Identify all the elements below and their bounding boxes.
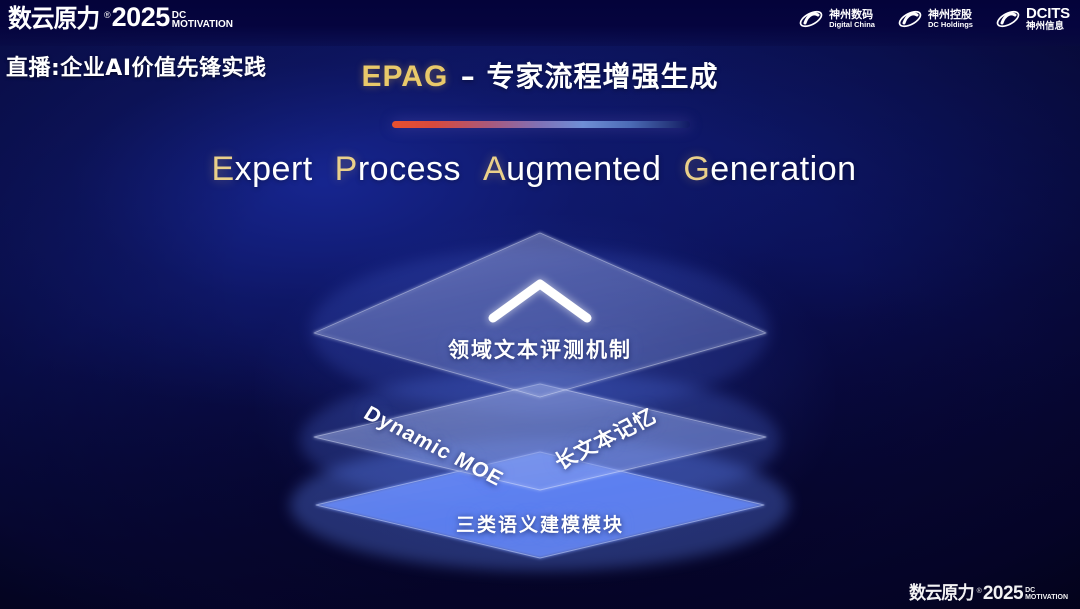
gradient-divider (392, 121, 690, 128)
subtitle-word: Augmented (483, 150, 671, 188)
subtitle-word: Process (335, 150, 471, 188)
brand-registered-mark: ® (104, 11, 111, 20)
brand-logo-year: 2025 (112, 4, 170, 31)
swoosh-logo-icon (798, 8, 824, 30)
subtitle-remainder: ugmented (506, 150, 661, 188)
subtitle-word: Expert (211, 150, 322, 188)
subtitle-capital: P (335, 150, 358, 188)
subtitle-remainder: eneration (710, 150, 856, 188)
footer-brand-registered-mark: ® (977, 588, 982, 595)
brand-dc-line2: MOTIVATION (172, 20, 233, 29)
partner-logo-digital-china: 神州数码 Digital China (798, 8, 875, 30)
partner-name-cn: 神州数码 (829, 9, 875, 21)
footer-brand-dc-motivation: DC MOTIVATION (1025, 588, 1068, 601)
brand-logo: 数云原力 ® 2025 DC MOTIVATION (8, 4, 233, 31)
footer-brand-year: 2025 (983, 584, 1023, 603)
partner-name-en: Digital China (829, 21, 875, 29)
subtitle-remainder: rocess (358, 150, 461, 188)
brand-logo-dc-motivation: DC MOTIVATION (172, 11, 233, 29)
subtitle-word: Generation (683, 150, 856, 188)
headline-rest: – 专家流程增强生成 (461, 60, 719, 93)
subtitle-capital: E (211, 150, 234, 188)
footer-brand-logo: 数云原力 ® 2025 DC MOTIVATION (909, 4, 1068, 603)
subtitle-capital: A (483, 150, 506, 188)
subtitle-capital: G (683, 150, 710, 188)
subtitle-remainder: xpert (235, 150, 313, 188)
footer-brand-dc-line2: MOTIVATION (1025, 595, 1068, 601)
footer-brand-cn: 数云原力 (909, 585, 974, 603)
brand-logo-cn: 数云原力 (8, 6, 99, 31)
slide-canvas: 领域文本评测机制 Dynamic MOE 长文本记忆 三类语义建模模块 数云原力… (0, 0, 1080, 609)
live-stream-title: 直播:企业AI价值先锋实践 (6, 50, 267, 82)
headline-accent: EPAG (362, 60, 449, 93)
